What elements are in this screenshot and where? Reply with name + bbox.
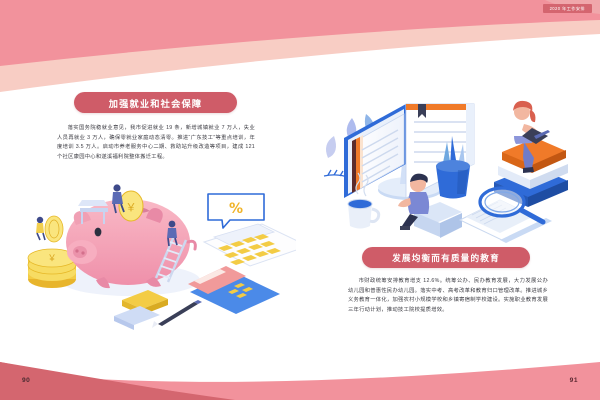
page-number-right: 91 (570, 377, 578, 384)
report-spread-page: 2020 年工作安排 加强就业和社会保障 落实国务院稳就业意见，我市促进就业 1… (0, 0, 600, 400)
calculator (204, 224, 296, 266)
header-section-tag: 2020 年工作安排 (543, 4, 592, 13)
section-badge-education[interactable]: 发展均衡而有质量的教育 (362, 247, 530, 268)
body-paragraph-education: 市财政统筹安排教育增支 12.6%。统筹公办、民办教育发展，大力发展公办幼儿园和… (348, 277, 548, 315)
piggy-bank-savings-illustration: ￥ (18, 180, 296, 335)
coin-with-person-left (36, 216, 63, 242)
percent-speech-bubble: % (208, 194, 264, 228)
svg-text:￥: ￥ (126, 201, 137, 214)
section-badge-employment[interactable]: 加强就业和社会保障 (74, 92, 237, 113)
svg-text:%: % (229, 201, 243, 217)
svg-text:￥: ￥ (47, 254, 56, 264)
education-reading-illustration (318, 96, 588, 246)
smartphone-and-card (188, 266, 280, 314)
page-number-left: 90 (22, 377, 30, 384)
body-paragraph-employment: 落实国务院稳就业意见，我市促进就业 19 条，新增城镇就业 7 万人，失业人员再… (57, 124, 255, 162)
